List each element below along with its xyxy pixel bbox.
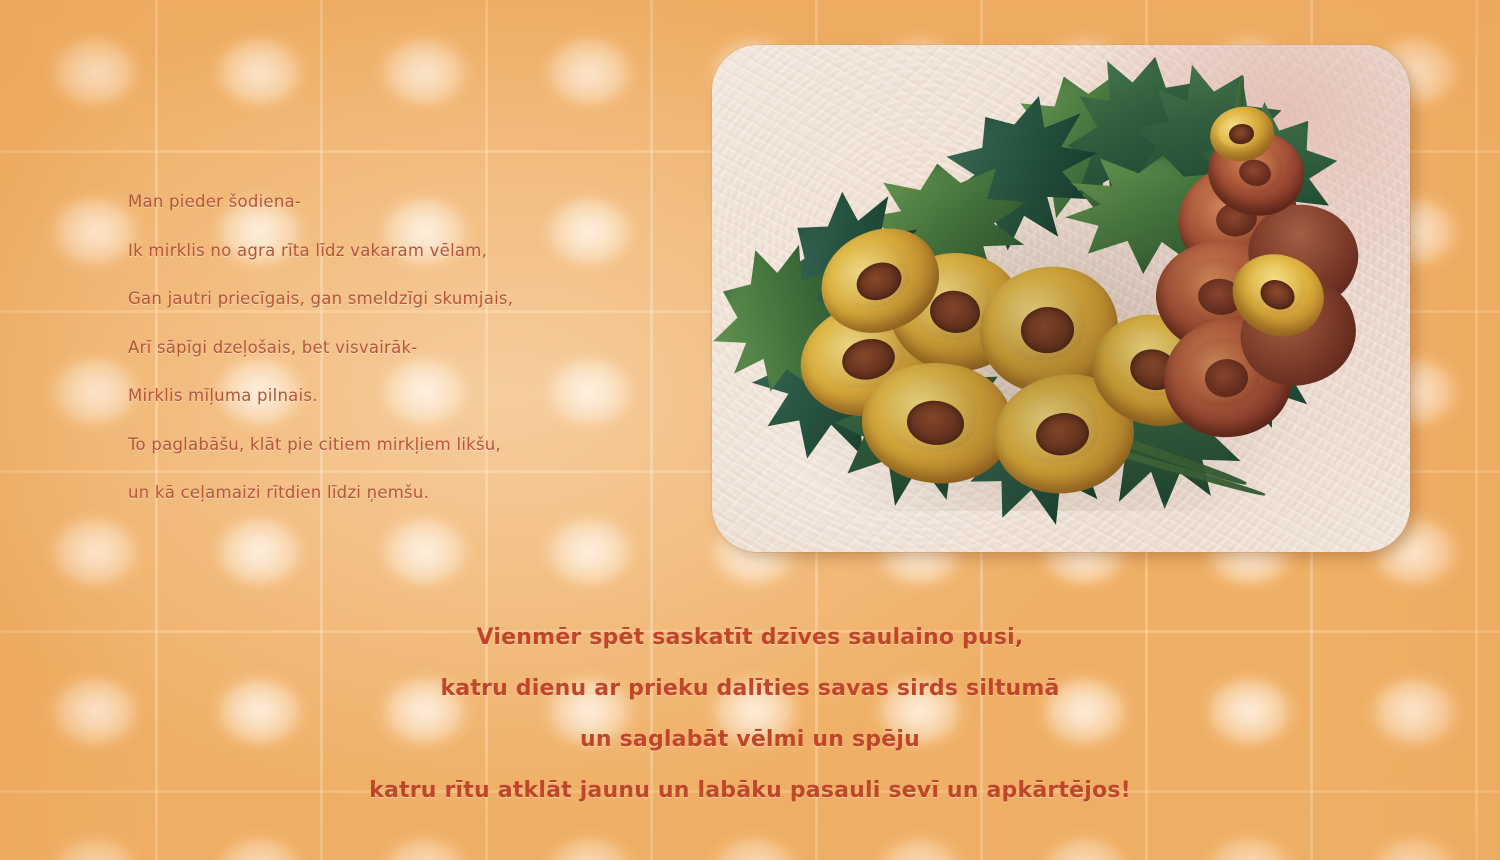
wish-line: katru dienu ar prieku dalīties savas sir… bbox=[0, 663, 1500, 714]
bouquet-photo bbox=[712, 45, 1410, 552]
greeting-card-page: Man pieder šodiena- Ik mirklis no agra r… bbox=[0, 0, 1500, 860]
poem-line: To paglabāšu, klāt pie citiem mirkļiem l… bbox=[128, 421, 688, 470]
poem-line: un kā ceļamaizi rītdien līdzi ņemšu. bbox=[128, 469, 688, 518]
wish-block: Vienmēr spēt saskatīt dzīves saulaino pu… bbox=[0, 612, 1500, 816]
poem-line: Mirklis mīļuma pilnais. bbox=[128, 372, 688, 421]
wish-line: katru rītu atklāt jaunu un labāku pasaul… bbox=[0, 765, 1500, 816]
wish-line: un saglabāt vēlmi un spēju bbox=[0, 714, 1500, 765]
wish-line: Vienmēr spēt saskatīt dzīves saulaino pu… bbox=[0, 612, 1500, 663]
poem-line: Arī sāpīgi dzeļošais, bet visvairāk- bbox=[128, 324, 688, 373]
poem-line: Ik mirklis no agra rīta līdz vakaram vēl… bbox=[128, 227, 688, 276]
poem-line: Gan jautri priecīgais, gan smeldzīgi sku… bbox=[128, 275, 688, 324]
poem-line: Man pieder šodiena- bbox=[128, 178, 688, 227]
poem-block: Man pieder šodiena- Ik mirklis no agra r… bbox=[128, 178, 688, 518]
photo-inner bbox=[712, 45, 1410, 552]
